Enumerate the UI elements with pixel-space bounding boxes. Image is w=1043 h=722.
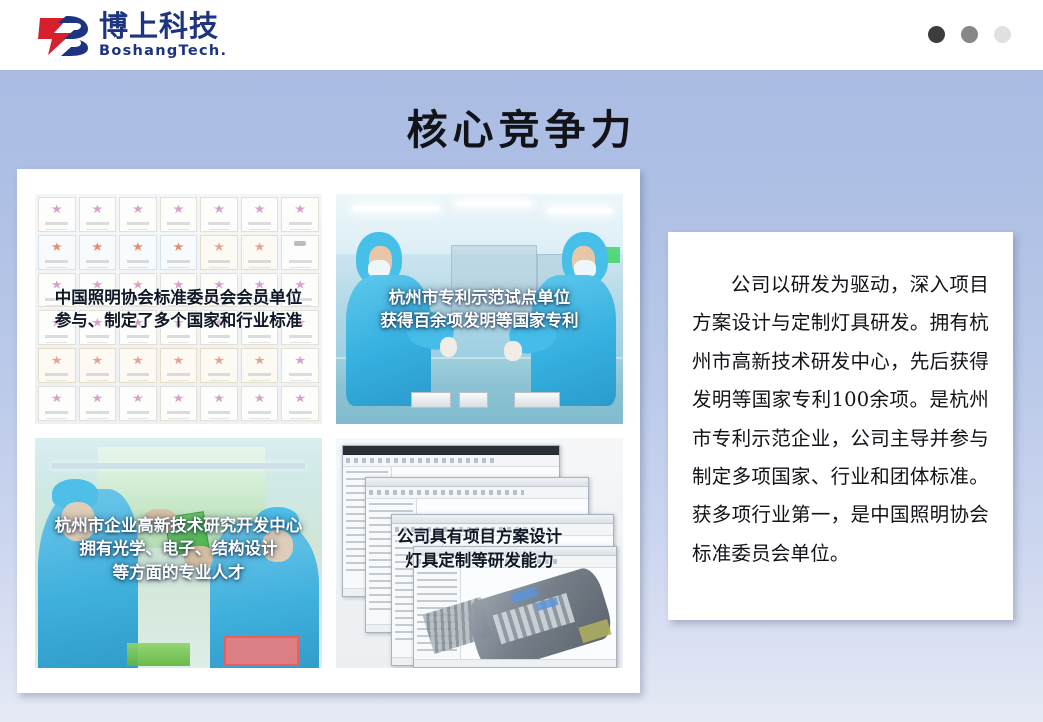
certificate-thumb (38, 348, 76, 383)
cad-toolbar (343, 455, 559, 467)
page-title: 核心竞争力 (0, 96, 1043, 156)
boshang-logo-mark-icon (38, 13, 90, 57)
certificate-thumb (241, 197, 279, 232)
certificate-thumb (200, 235, 238, 270)
lab-rail (52, 463, 305, 469)
product-box (459, 392, 488, 408)
logo-english-name: BoshangTech. (99, 44, 227, 59)
certificate-thumb (241, 386, 279, 421)
caption-line: 灯具定制等研发能力 (341, 549, 618, 572)
certificate-thumb (38, 386, 76, 421)
tile-caption-rnd-center: 杭州市企业高新技术研究开发中心 拥有光学、电子、结构设计 等方面的专业人才 (35, 514, 322, 584)
certificate-thumb (241, 348, 279, 383)
company-logo[interactable]: 博上科技 BoshangTech. (38, 11, 227, 59)
certificate-thumb (200, 348, 238, 383)
gallery-card: 中国照明协会标准委员会会员单位 参与、制定了多个国家和行业标准 (17, 169, 640, 693)
certificate-thumb (200, 197, 238, 232)
certificate-thumb (160, 235, 198, 270)
caption-line: 中国照明协会标准委员会会员单位 (40, 286, 317, 309)
page-header: 博上科技 BoshangTech. (0, 0, 1043, 70)
pagination-dots[interactable] (928, 26, 1011, 43)
gallery-grid: 中国照明协会标准委员会会员单位 参与、制定了多个国家和行业标准 (35, 194, 623, 668)
caption-line: 获得百余项发明等国家专利 (341, 309, 618, 332)
certificate-thumb (79, 235, 117, 270)
logo-chinese-name: 博上科技 (99, 12, 227, 41)
certificate-thumb (281, 348, 319, 383)
product-box (411, 392, 451, 408)
luminaire-3d-model (463, 565, 616, 668)
certificate-thumb (281, 386, 319, 421)
gallery-tile-certificates[interactable]: 中国照明协会标准委员会会员单位 参与、制定了多个国家和行业标准 (35, 194, 322, 424)
pager-dot-3[interactable] (994, 26, 1011, 43)
certificate-thumb (38, 235, 76, 270)
slide-page: 博上科技 BoshangTech. 核心竞争力 (0, 0, 1043, 722)
cad-titlebar (343, 446, 559, 455)
gallery-tile-cleanroom[interactable]: 杭州市专利示范试点单位 获得百余项发明等国家专利 (336, 194, 623, 424)
ceiling-light (548, 208, 611, 213)
logo-text: 博上科技 BoshangTech. (99, 12, 227, 59)
certificate-thumb (79, 197, 117, 232)
worker-glove (440, 337, 458, 357)
cad-statusbar (414, 659, 616, 667)
certificate-thumb (160, 197, 198, 232)
caption-line: 杭州市企业高新技术研究开发中心 (40, 514, 317, 537)
ceiling-light (353, 206, 439, 211)
caption-line: 等方面的专业人才 (40, 561, 317, 584)
pager-dot-2[interactable] (961, 26, 978, 43)
red-parts-tray (224, 636, 299, 666)
certificate-thumb (79, 386, 117, 421)
pager-dot-1[interactable] (928, 26, 945, 43)
component-parts (127, 643, 190, 666)
gallery-tile-cad-design[interactable]: 公司具有项目方案设计 灯具定制等研发能力 (336, 438, 623, 668)
tile-caption-certificates: 中国照明协会标准委员会会员单位 参与、制定了多个国家和行业标准 (35, 286, 322, 333)
certificate-thumb (160, 386, 198, 421)
certificate-thumb (160, 348, 198, 383)
certificate-thumb (200, 386, 238, 421)
tile-caption-cad-design: 公司具有项目方案设计 灯具定制等研发能力 (336, 525, 623, 572)
certificate-thumb (241, 235, 279, 270)
certificate-thumb (79, 348, 117, 383)
company-description-text: 公司以研发为驱动，深入项目方案设计与定制灯具研发。拥有杭州市高新技术研发中心，先… (692, 266, 989, 573)
description-panel: 公司以研发为驱动，深入项目方案设计与定制灯具研发。拥有杭州市高新技术研发中心，先… (668, 232, 1013, 620)
caption-line: 公司具有项目方案设计 (341, 525, 618, 548)
cad-titlebar (392, 515, 614, 524)
certificate-thumb (281, 235, 319, 270)
tile-caption-cleanroom: 杭州市专利示范试点单位 获得百余项发明等国家专利 (336, 286, 623, 333)
certificate-thumb (119, 348, 157, 383)
certificate-thumb (119, 386, 157, 421)
cad-toolbar (366, 487, 588, 499)
caption-line: 参与、制定了多个国家和行业标准 (40, 309, 317, 332)
gallery-tile-rnd-center[interactable]: 杭州市企业高新技术研究开发中心 拥有光学、电子、结构设计 等方面的专业人才 (35, 438, 322, 668)
ceiling-light (457, 201, 532, 206)
worker-glove (504, 341, 522, 361)
product-box (514, 392, 560, 408)
certificate-thumb (281, 197, 319, 232)
certificate-thumb (38, 197, 76, 232)
caption-line: 拥有光学、电子、结构设计 (40, 537, 317, 560)
cad-titlebar (366, 478, 588, 487)
certificate-thumb (119, 235, 157, 270)
caption-line: 杭州市专利示范试点单位 (341, 286, 618, 309)
certificate-thumb (119, 197, 157, 232)
